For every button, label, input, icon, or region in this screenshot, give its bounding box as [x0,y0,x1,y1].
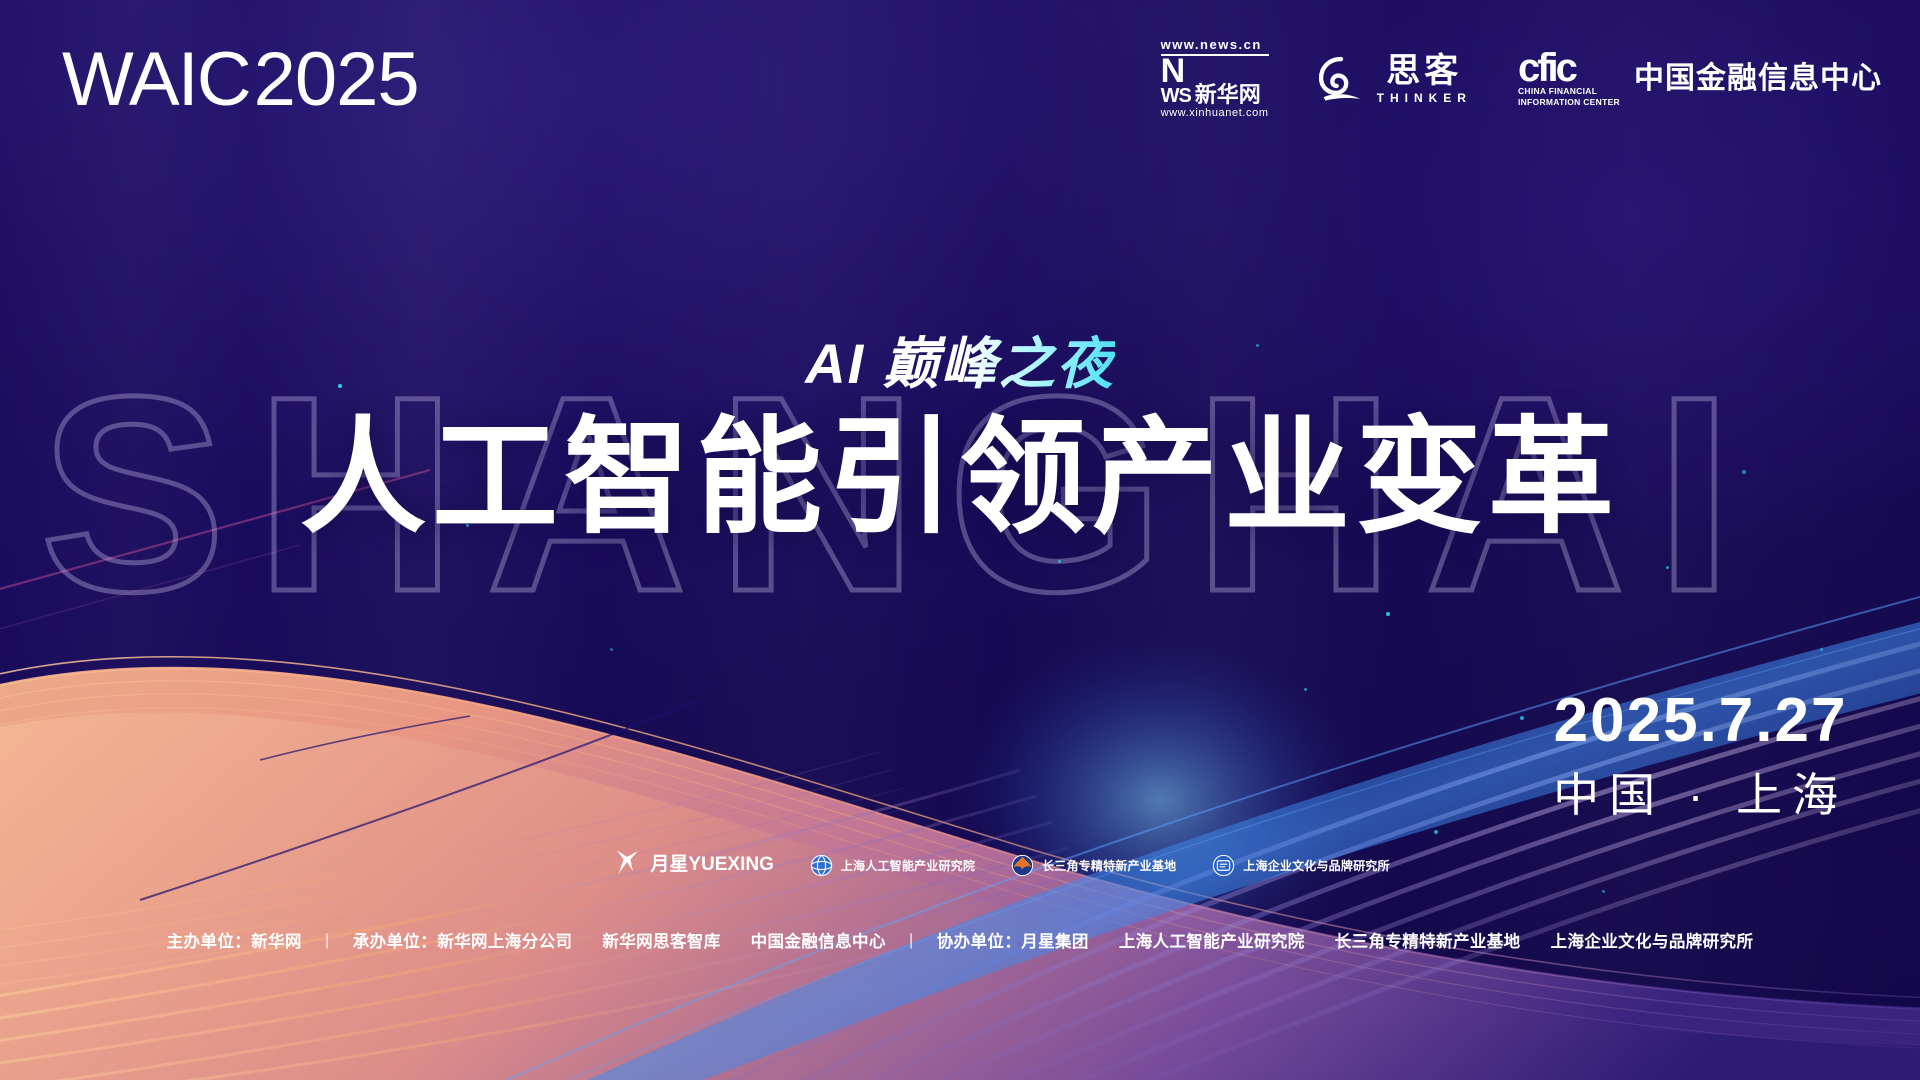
event-location: 中国 · 上海 [1553,772,1848,818]
credit-separator-1: 丨 [319,933,336,951]
partner-logo-enterprise-culture-brand-institute: 上海企业文化与品牌研究所 [1210,852,1389,879]
cfic-mark: cfic CHINA FINANCIAL INFORMATION CENTER [1518,50,1620,107]
date-location-block: 2025.7.27 中国 · 上海 [1553,690,1848,818]
partner-label-yangtze-delta-base: 长三角专精特新产业基地 [1042,857,1176,874]
organizer-credits: 主办单位：新华网 丨 承办单位：新华网上海分公司 新华网思客智库 中国金融信息中… [0,928,1920,952]
waic-logo-word: WAIC [62,37,250,122]
partner-logo-yangtze-delta-base: 长三角专精特新产业基地 [1009,852,1176,879]
partner-logo-shanghai-ai-institute: 上海人工智能产业研究院 [808,852,975,879]
cfic-logo: cfic CHINA FINANCIAL INFORMATION CENTER … [1518,50,1882,107]
shanghai-ai-institute-icon [808,852,835,879]
credit-organizer-extra-2: 中国金融信息中心 [751,933,886,951]
xinhua-name-cn: 新华网 [1195,84,1261,106]
xinhua-url-top: www.news.cn [1161,38,1262,53]
partner-label-enterprise-culture-brand-institute: 上海企业文化与品牌研究所 [1243,857,1389,874]
header-bar: WAIC2025 www.news.cn N WS 新华网 www.xinhua… [0,0,1920,150]
thinker-logo: 思客 THINKER [1315,53,1472,105]
thinker-text: 思客 THINKER [1377,54,1472,105]
waic-logo: WAIC2025 [62,42,419,118]
cfic-wordmark: cfic [1518,50,1575,86]
credit-organizer: 承办单位：新华网上海分公司 [353,933,573,951]
credit-separator-2: 丨 [903,933,920,951]
credit-coorganizer-extra-3: 上海企业文化与品牌研究所 [1551,933,1754,951]
thinker-swirl-icon [1315,53,1367,105]
yuexing-icon [610,845,644,879]
xinhua-mark: N WS 新华网 [1161,58,1261,106]
credit-host: 主办单位：新华网 [167,933,302,951]
subtitle-cn: 巅峰之夜 [883,332,1115,395]
xinhua-mark-letter: N [1161,58,1191,86]
credit-organizer-extra-1: 新华网思客智库 [602,933,720,951]
xinhua-news-logo: www.news.cn N WS 新华网 www.xinhuanet.com [1161,38,1269,120]
partner-label-yuexing: 月星YUEXING [650,849,774,876]
header-logo-group: www.news.cn N WS 新华网 www.xinhuanet.com [1161,38,1882,120]
credit-coorganizer-extra-2: 长三角专精特新产业基地 [1335,933,1521,951]
partner-logo-row: 月星YUEXING 上海人工智能产业研究院 长三角专精特新产业基地 [0,845,1920,879]
credit-coorganizer: 协办单位：月星集团 [937,933,1089,951]
enterprise-culture-brand-institute-icon [1210,852,1237,879]
credit-coorganizer-extra-1: 上海人工智能产业研究院 [1119,933,1305,951]
yangtze-delta-base-icon [1009,852,1036,879]
partner-label-shanghai-ai-institute: 上海人工智能产业研究院 [841,857,975,874]
xinhua-mark-suffix: WS [1161,86,1191,106]
xinhua-url-bottom: www.xinhuanet.com [1161,107,1269,120]
event-date: 2025.7.27 [1553,690,1848,752]
thinker-name-cn: 思客 [1386,54,1462,88]
cfic-name-cn: 中国金融信息中心 [1634,64,1882,94]
poster-canvas: SHANGHAI WAIC2025 www.news.cn [0,0,1920,1080]
waic-logo-year: 2025 [254,37,419,122]
event-headline: 人工智能引领产业变革 [0,410,1920,546]
thinker-name-en: THINKER [1377,91,1472,105]
partner-logo-yuexing: 月星YUEXING [610,845,774,879]
event-subtitle: AI 巅峰之夜 [0,336,1920,392]
cfic-sub-line1: CHINA FINANCIAL [1518,86,1597,97]
cfic-sub-line2: INFORMATION CENTER [1518,97,1620,108]
subtitle-ai: AI [805,332,865,395]
